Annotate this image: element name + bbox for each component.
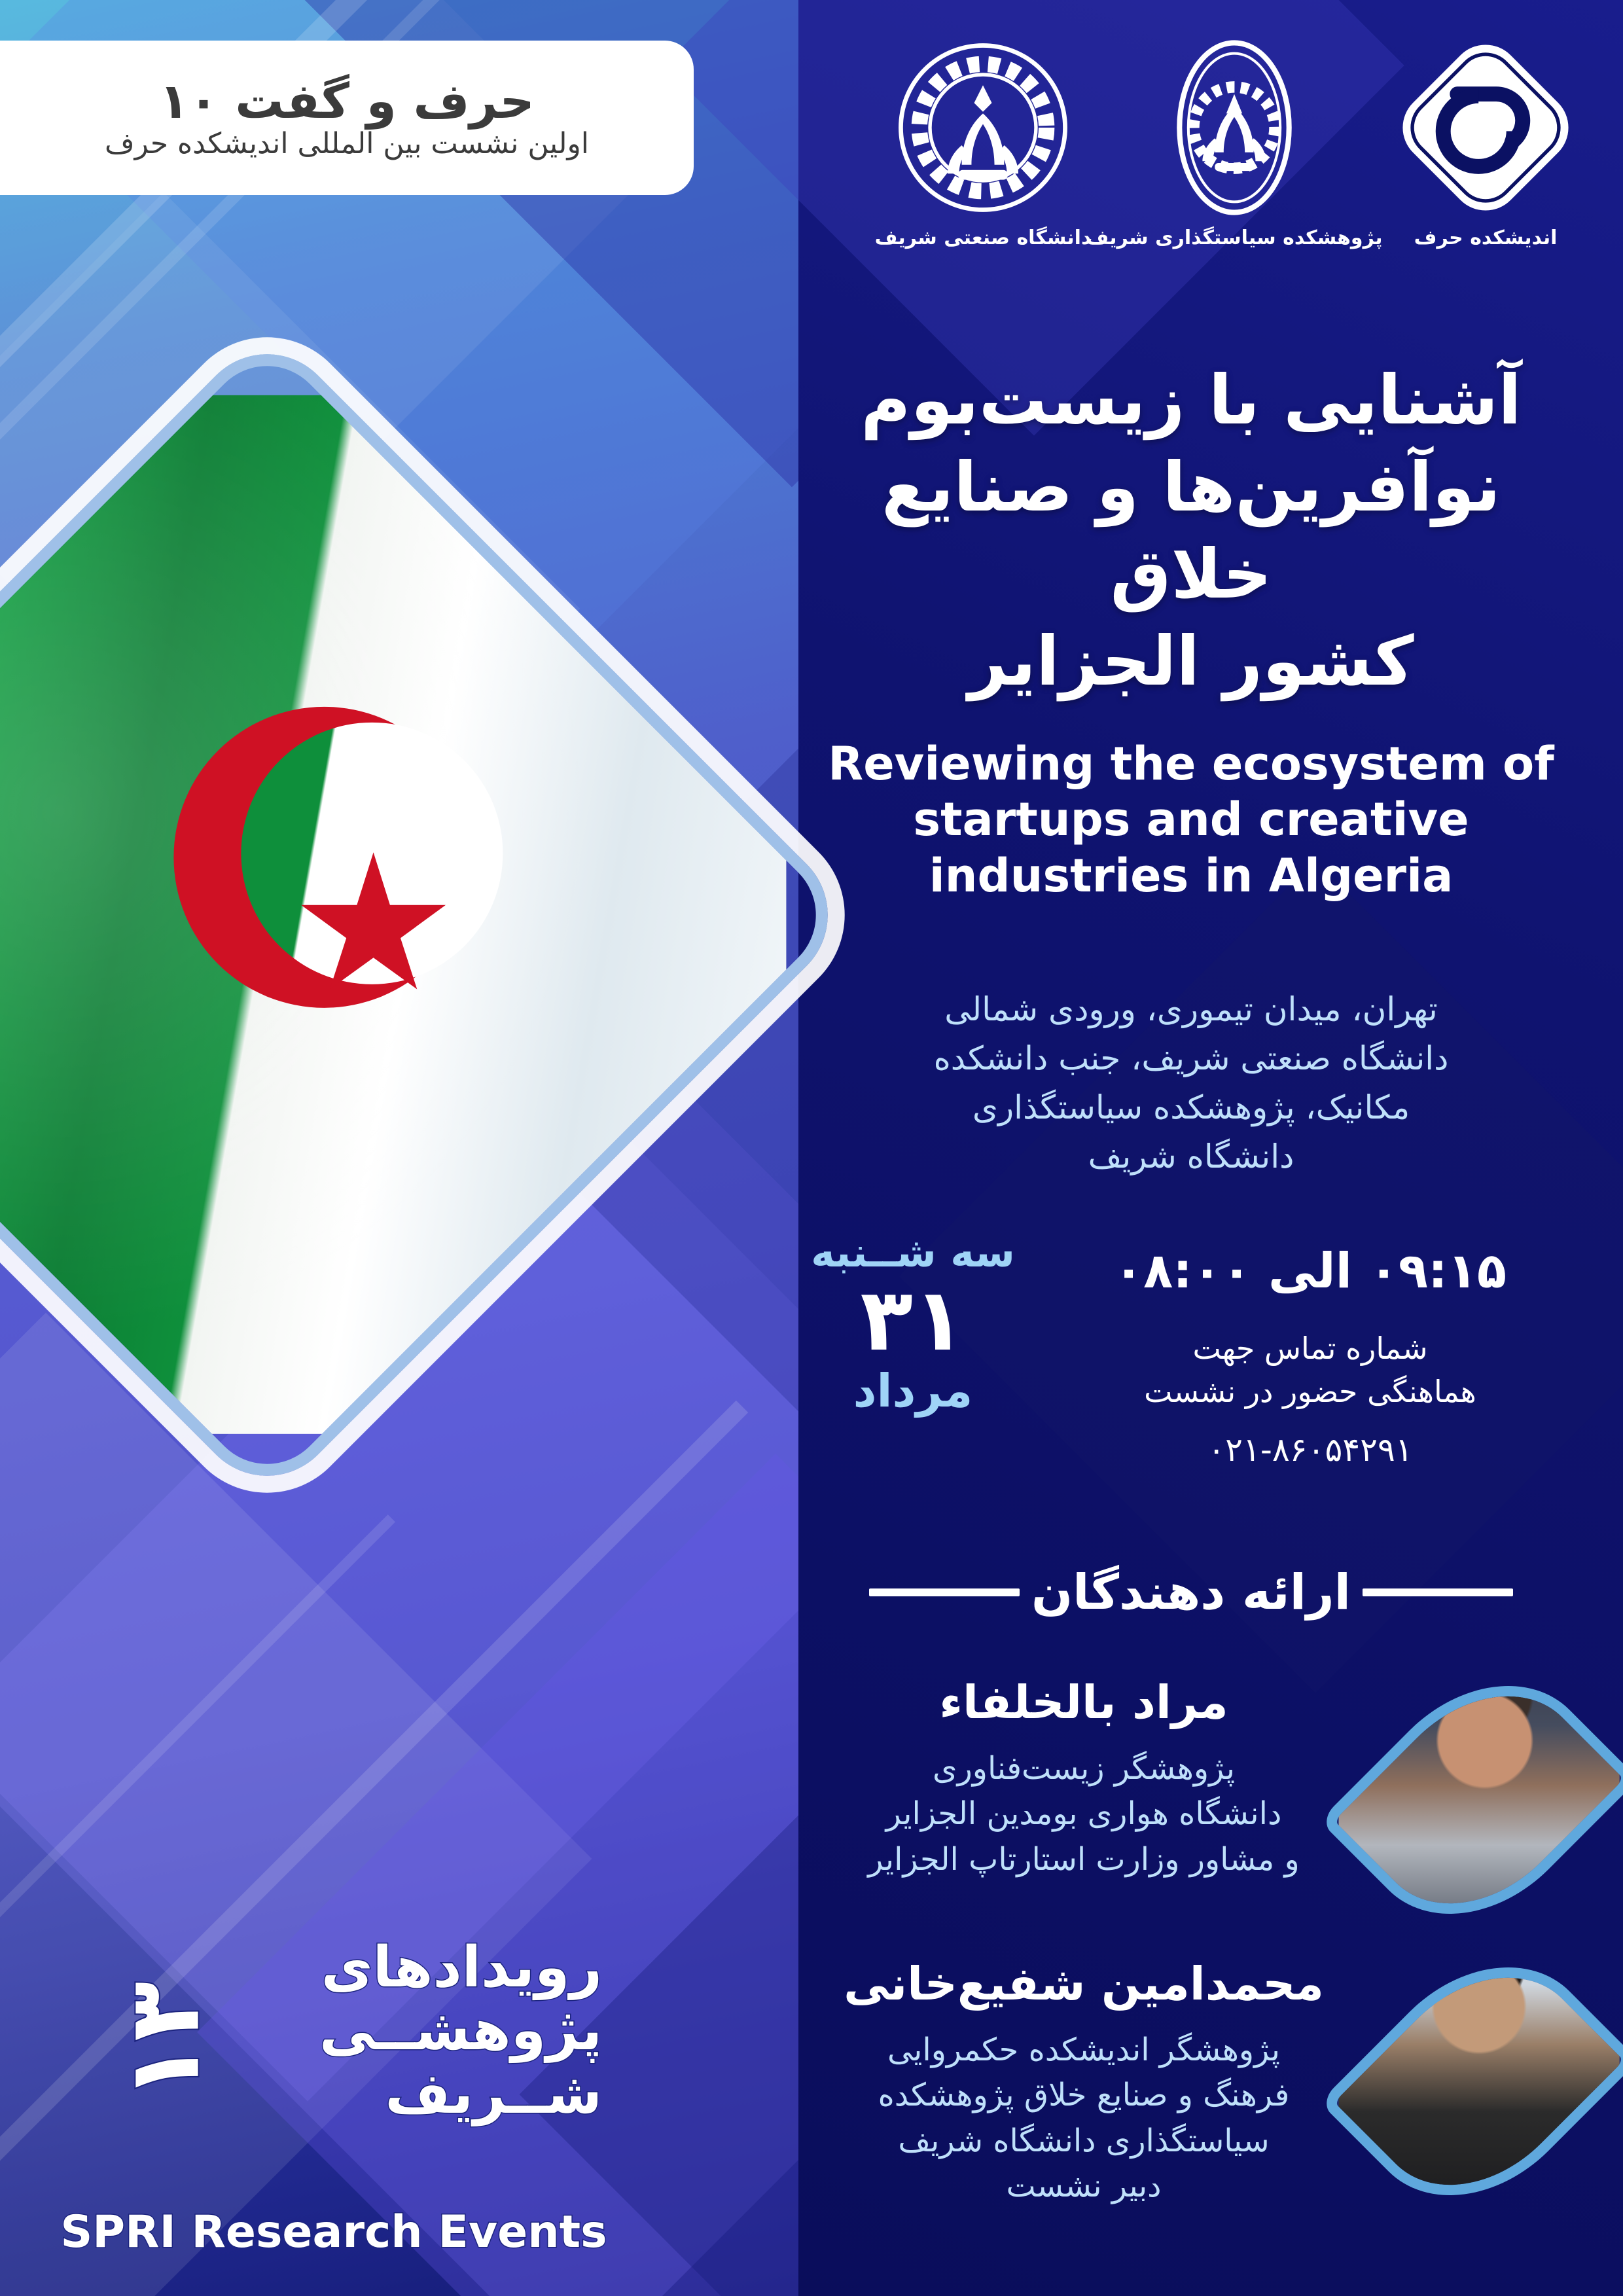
contact-note-line2: هماهنگی حضور در نشست <box>1043 1370 1577 1414</box>
logo-caption-harf: اندیشکده حرف <box>1414 226 1558 249</box>
brand-fa-lines: رویدادهای پژوهشــی شــریف <box>319 1936 602 2125</box>
presenter-card-2: محمدامین شفیع‌خانی پژوهشگر اندیشکده حکمر… <box>805 1954 1577 2210</box>
event-date: سه شــنبه ۳۱ مرداد <box>805 1230 1021 1416</box>
presenters-heading-text: ارائه دهندگان <box>1031 1564 1351 1621</box>
heading-rule-right <box>869 1588 1020 1596</box>
main-title-fa-line3: کشور الجزایر <box>805 618 1577 705</box>
logo-cell-harf: اندیشکده حرف <box>1387 39 1584 249</box>
brand-line-2: پژوهشــی <box>319 1999 602 2062</box>
presenter-2-name: محمدامین شفیع‌خانی <box>805 1958 1363 2011</box>
time-and-contact: ۰۹:۱۵ الی ۰۸:۰۰ شماره تماس جهت هماهنگی ح… <box>1043 1230 1577 1469</box>
main-title-en: Reviewing the ecosystem of startups and … <box>805 736 1577 904</box>
sharif-university-gear-logo-icon <box>895 39 1071 216</box>
contact-note-line1: شماره تماس جهت <box>1043 1327 1577 1371</box>
main-title-en-line1: Reviewing the ecosystem of <box>805 736 1577 792</box>
event-month: مرداد <box>805 1366 1021 1416</box>
presenter-2-photo <box>1381 1954 1577 2209</box>
address-line-2: دانشگاه صنعتی شریف، جنب دانشکده <box>805 1034 1577 1083</box>
datetime-block: ۰۹:۱۵ الی ۰۸:۰۰ شماره تماس جهت هماهنگی ح… <box>805 1230 1577 1469</box>
badge-title: حرف و گفت ۱۰ <box>159 77 535 126</box>
contact-note: شماره تماس جهت هماهنگی حضور در نشست <box>1043 1327 1577 1414</box>
presenter-1-photo <box>1381 1672 1577 1928</box>
main-title-fa-line2: نوآفرین‌ها و صنایع خلاق <box>805 444 1577 618</box>
logo-caption-sharif: دانشگاه صنعتی شریف <box>875 226 1092 249</box>
main-title-en-line2: startups and creative <box>805 792 1577 848</box>
address-line-1: تهران، میدان تیموری، ورودی شمالی <box>805 985 1577 1034</box>
logo-cell-spri: پژوهشکده سیاستگذاری شریف <box>1136 39 1332 249</box>
event-weekday: سه شــنبه <box>805 1230 1021 1275</box>
event-time: ۰۹:۱۵ الی ۰۸:۰۰ <box>1043 1242 1577 1300</box>
presenter-1-role-line3: و مشاور وزارت استارتاپ الجزایر <box>805 1837 1363 1883</box>
presenter-2-role: پژوهشگر اندیشکده حکمروایی فرهنگ و صنایع … <box>805 2028 1363 2210</box>
sharif-policy-research-institute-logo-icon <box>1146 39 1323 216</box>
logo-row: اندیشکده حرف پژوهشکده سیاستگذاری شریف <box>885 39 1584 249</box>
brand-edition-number: ۱۳ <box>108 1981 222 2101</box>
logo-caption-spri: پژوهشکده سیاستگذاری شریف <box>1086 226 1382 249</box>
badge-subtitle: اولین نشست بین المللی اندیشکده حرف <box>105 130 589 158</box>
contact-phone[interactable]: ۰۲۱-۸۶۰۵۴۲۹۱ <box>1043 1431 1577 1469</box>
presenter-1-role-line2: دانشگاه هواری بومدین الجزایر <box>805 1791 1363 1837</box>
poster-canvas: حرف و گفت ۱۰ اولین نشست بین المللی اندیش… <box>0 0 1623 2296</box>
main-title-en-line3: industries in Algeria <box>805 848 1577 904</box>
harf-think-tank-logo-icon <box>1397 39 1574 216</box>
presenter-1-role-line1: پژوهشگر زیست‌فناوری <box>805 1746 1363 1792</box>
main-title-fa-line1: آشنایی با زیست‌بوم <box>805 357 1577 444</box>
main-title-fa: آشنایی با زیست‌بوم نوآفرین‌ها و صنایع خل… <box>805 357 1577 705</box>
address-line-3: مکانیک، پژوهشکده سیاستگذاری <box>805 1083 1577 1132</box>
logo-cell-sharif: دانشگاه صنعتی شریف <box>885 39 1081 249</box>
event-series-badge: حرف و گفت ۱۰ اولین نشست بین المللی اندیش… <box>0 41 694 195</box>
presenter-1-role: پژوهشگر زیست‌فناوری دانشگاه هواری بومدین… <box>805 1746 1363 1883</box>
presenter-2-role-line2: فرهنگ و صنایع خلاق پژوهشکده <box>805 2073 1363 2119</box>
presenter-2-role-line4: دبیر نشست <box>805 2164 1363 2210</box>
brand-english-name: SPRI Research Events <box>39 2206 628 2258</box>
event-day-number: ۳۱ <box>805 1275 1021 1366</box>
spri-brand-block: رویدادهای پژوهشــی شــریف ۱۳ SPRI Resear… <box>39 1929 628 2270</box>
brand-line-3: شــریف <box>319 2062 602 2125</box>
presenter-2-role-line3: سیاستگذاری دانشگاه شریف <box>805 2119 1363 2164</box>
presenter-1-name: مراد بالخلفاء <box>805 1676 1363 1729</box>
presenters-heading-wrap: ارائه دهندگان <box>805 1564 1577 1621</box>
presenter-2-role-line1: پژوهشگر اندیشکده حکمروایی <box>805 2028 1363 2073</box>
venue-address: تهران، میدان تیموری، ورودی شمالی دانشگاه… <box>805 985 1577 1181</box>
heading-rule-left <box>1363 1588 1513 1596</box>
brand-line-1: رویدادهای <box>319 1936 602 1999</box>
presenter-card-1: مراد بالخلفاء پژوهشگر زیست‌فناوری دانشگا… <box>805 1672 1577 1928</box>
address-line-4: دانشگاه شریف <box>805 1132 1577 1181</box>
presenters-heading: ارائه دهندگان <box>805 1564 1577 1621</box>
